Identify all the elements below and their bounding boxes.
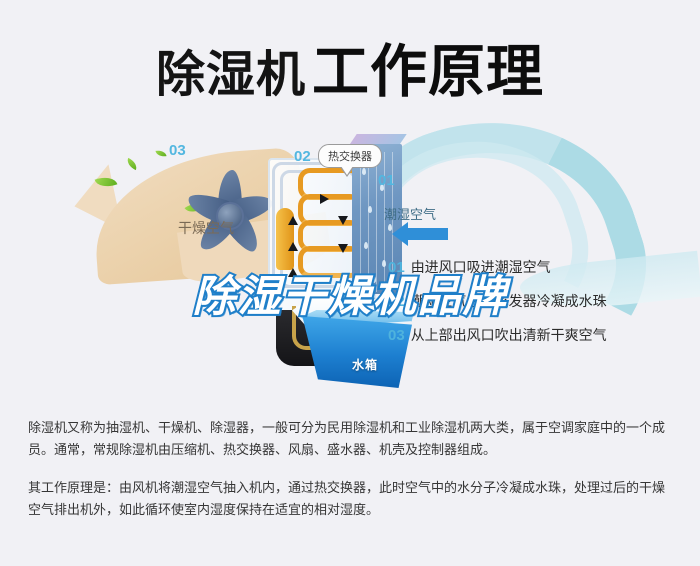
flow-arrow-up [288, 242, 298, 251]
condenser-coil [298, 168, 356, 286]
fan-icon [174, 160, 282, 268]
fin-line [368, 152, 369, 292]
paragraph-2: 其工作原理是：由风机将潮湿空气抽入机内，通过热交换器，此时空气中的水分子冷凝成水… [28, 478, 676, 522]
humid-air-label: 潮湿空气 [384, 204, 436, 223]
fin-line [360, 152, 361, 292]
flow-arrow-right [320, 194, 329, 204]
badge-01: 01 [378, 172, 395, 189]
water-tank-label: 水箱 [352, 356, 378, 373]
title-part-2: 工作原理 [312, 39, 544, 105]
step-text: 从上部出风口吹出清新干爽空气 [411, 326, 607, 345]
flow-arrow-up [288, 268, 298, 277]
body-copy: 除湿机又称为抽湿机、干燥机、除湿器，一般可分为民用除湿机和工业除湿机两大类，属于… [28, 418, 676, 538]
water-droplet [364, 242, 368, 249]
flow-arrow-down [338, 216, 348, 225]
flow-arrow-down [338, 244, 348, 253]
title-part-1: 除湿机 [156, 46, 306, 103]
fin-line [376, 152, 377, 292]
step-number: 03 [388, 326, 405, 345]
water-droplet [372, 276, 376, 283]
badge-03: 03 [169, 142, 186, 159]
leaf-icon [155, 149, 166, 158]
water-droplet [362, 168, 366, 175]
air-intake-arrowhead [392, 222, 408, 246]
leaf-icon [125, 158, 139, 170]
water-droplet [368, 206, 372, 213]
page-root: 除湿机工作原理 [0, 0, 700, 566]
paragraph-1: 除湿机又称为抽湿机、干燥机、除湿器，一般可分为民用除湿机和工业除湿机两大类，属于… [28, 418, 676, 462]
dry-air-label: 干燥空气 [178, 218, 234, 238]
list-item: 01 由进风口吸进潮湿空气 [388, 258, 688, 277]
heat-exchanger-callout: 热交换器 [318, 144, 382, 168]
step-text: 由进风口吸进潮湿空气 [411, 258, 551, 277]
air-intake-arrow [404, 228, 448, 240]
water-droplet [382, 260, 386, 267]
list-item: 02 潮湿空气经过蒸发器冷凝成水珠 [388, 292, 688, 311]
flow-arrow-up [288, 216, 298, 225]
list-item: 03 从上部出风口吹出清新干爽空气 [388, 326, 688, 345]
badge-02: 02 [294, 148, 311, 165]
step-number: 01 [388, 258, 405, 277]
page-title: 除湿机工作原理 [0, 26, 700, 108]
steps-list: 01 由进风口吸进潮湿空气 02 潮湿空气经过蒸发器冷凝成水珠 03 从上部出风… [388, 258, 688, 360]
step-text: 潮湿空气经过蒸发器冷凝成水珠 [411, 292, 607, 311]
step-number: 02 [388, 292, 405, 311]
